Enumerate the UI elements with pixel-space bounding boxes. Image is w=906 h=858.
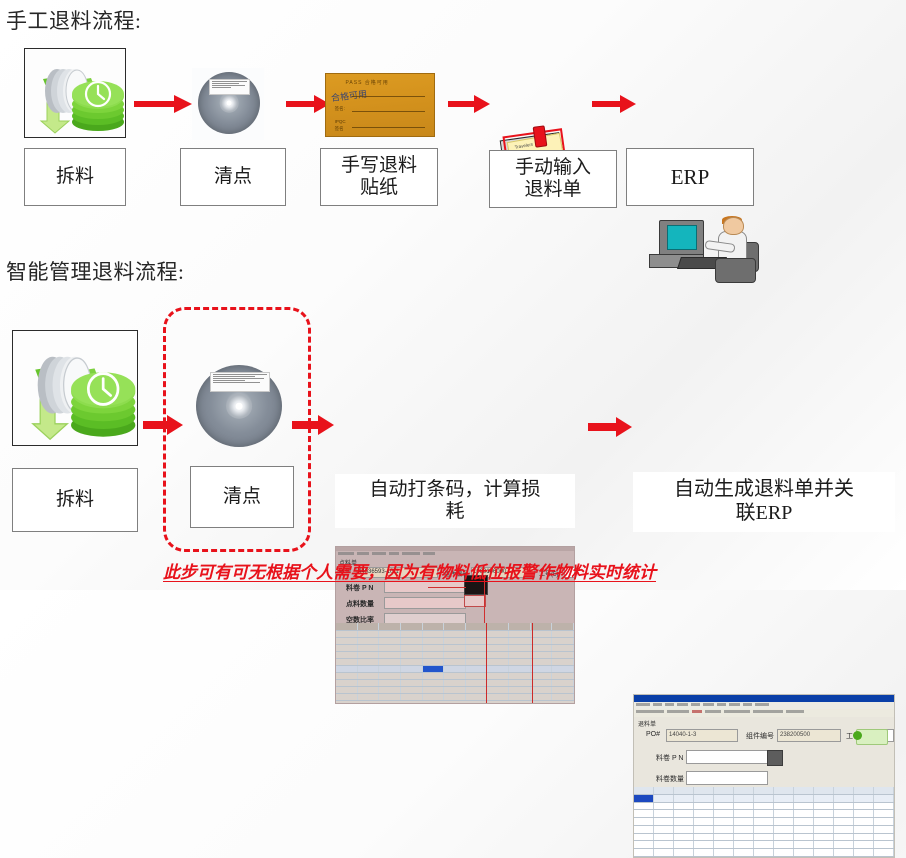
manual-step-4-label-line2: 退料单 [524,179,581,201]
erp-breadcrumb: 退料单 [638,719,656,728]
erp-data-grid[interactable] [634,787,894,857]
sticker-sign-label: 签名: [335,106,345,112]
table-row[interactable] [336,631,574,638]
notepad-clip-icon [533,125,548,148]
erp-titlebar [634,695,894,702]
table-row[interactable] [634,849,894,857]
reel-disc-graphic [196,365,282,447]
reel-label [209,79,249,95]
erp-toolbar [634,709,894,717]
erp-po-value: 14040-1-3 [669,732,696,738]
smart-smd-reel-photo [196,365,282,451]
manual-step-1-label: 拆料 [56,166,94,188]
erp-status-dot [853,731,862,740]
footnote-text: 此步可有可无根据个人需要，因为有物料低位报警作物料实时统计 [163,558,656,583]
manual-step-2-caption: 清点 [180,148,286,206]
table-row[interactable] [336,645,574,652]
manual-step-3-label-line1: 手写退料 [341,155,417,177]
manual-arrow-4 [592,92,638,116]
smart-green-reel-stack-icon [12,330,138,446]
erp-field-1-input[interactable] [686,750,768,764]
arrow-right-icon [448,92,492,116]
smart-step-3-caption: 自动打条码，计算损 耗 [335,474,575,528]
chair-seat [715,258,755,283]
smart-step-2-caption: 清点 [190,466,294,528]
counting-data-grid[interactable] [336,623,574,703]
manual-flow-heading: 手工退料流程: [6,5,141,35]
table-row[interactable] [336,673,574,680]
reel-disc-graphic [198,72,260,134]
manual-step-3-caption: 手写退料 贴纸 [320,148,438,206]
smart-step-4-label-line1: 自动生成退料单并关 [674,478,854,502]
table-row[interactable] [634,826,894,834]
counting-field-2-label: 点料数量 [346,599,374,609]
manual-arrow-1 [134,92,194,116]
arrow-right-icon [134,92,194,116]
table-row[interactable] [634,834,894,842]
smart-flow-heading: 智能管理退料流程: [6,256,184,286]
erp-part-value: 238200500 [780,732,810,738]
grid-header-row [634,787,894,795]
manual-step-1-caption: 拆料 [24,148,126,206]
table-row[interactable] [336,680,574,687]
monitor-screen [667,225,697,250]
smart-step-4-label-line2: 联ERP [736,502,793,526]
table-row[interactable] [336,694,574,701]
manual-step-5-label: ERP [671,165,710,190]
erp-field-2-label: 料卷数量 [656,774,684,784]
sticker-ipqc-label: IPQC [335,119,346,124]
erp-field-1-button[interactable] [767,750,783,766]
smart-step-4-caption: 自动生成退料单并关 联ERP [633,472,895,532]
green-reel-stack-icon [24,48,126,138]
manual-step-3-label-line2: 贴纸 [360,177,398,199]
manual-step-5-caption: ERP [626,148,754,206]
reel-stack-svg [25,49,126,138]
computer-user-clipart [641,206,769,288]
smart-arrow-2 [292,413,336,437]
table-row[interactable] [336,659,574,666]
smart-step-1-caption: 拆料 [12,468,138,532]
reel-stack-svg [13,331,138,446]
counting-column-highlight [486,623,487,704]
erp-po-label: PO# [646,731,660,738]
erp-software-screenshot: 退料单 PO# 14040-1-3 组件编号 238200500 工号(2) 料… [633,694,895,858]
smart-arrow-3 [588,415,634,439]
table-row[interactable] [336,687,574,694]
table-row[interactable] [634,803,894,811]
sticker-ipqc-sign-label: 签名 [335,126,344,132]
manual-step-2-label: 清点 [214,166,252,188]
reel-stack-graphic [25,49,125,137]
erp-field-2-input[interactable] [686,771,768,785]
manual-arrow-3 [448,92,492,116]
counting-print-button[interactable] [464,595,486,607]
table-row-selected[interactable] [336,666,574,673]
erp-field-1-label: 料卷 P N [656,753,684,763]
smd-reel-photo [192,68,264,140]
smart-step-3-label-line1: 自动打条码，计算损 [369,479,540,501]
sticker-title: PASS 合格可用 [345,79,388,86]
grid-header-row [336,623,574,631]
smart-step-1-label: 拆料 [56,489,94,511]
person-head [723,217,744,235]
table-row[interactable] [634,810,894,818]
erp-menubar [634,702,894,709]
smart-step-3-label-line2: 耗 [445,501,464,523]
reel-stack-graphic [13,331,137,445]
counting-field-2-input[interactable] [384,597,466,609]
table-row[interactable] [634,841,894,849]
counting-column-highlight-2 [532,623,533,704]
arrow-right-icon [588,415,634,439]
table-row[interactable] [336,652,574,659]
table-row[interactable] [336,638,574,645]
table-row-selected[interactable] [634,795,894,803]
smart-step-2-label: 清点 [223,486,261,508]
reel-label [210,372,270,392]
screenshot-toolbar [336,551,574,556]
arrow-right-icon [292,413,336,437]
counting-annotation-line [428,587,466,588]
pass-sticker-photo: PASS 合格可用 合格可用 签名: IPQC 签名 [325,73,435,137]
counting-field-1-label: 料卷 P N [346,583,374,593]
erp-part-label: 组件编号 [746,731,774,741]
manual-step-4-label-line1: 手动输入 [515,157,591,179]
arrow-right-icon [592,92,638,116]
manual-step-4-caption: 手动输入 退料单 [489,150,617,208]
table-row[interactable] [634,818,894,826]
